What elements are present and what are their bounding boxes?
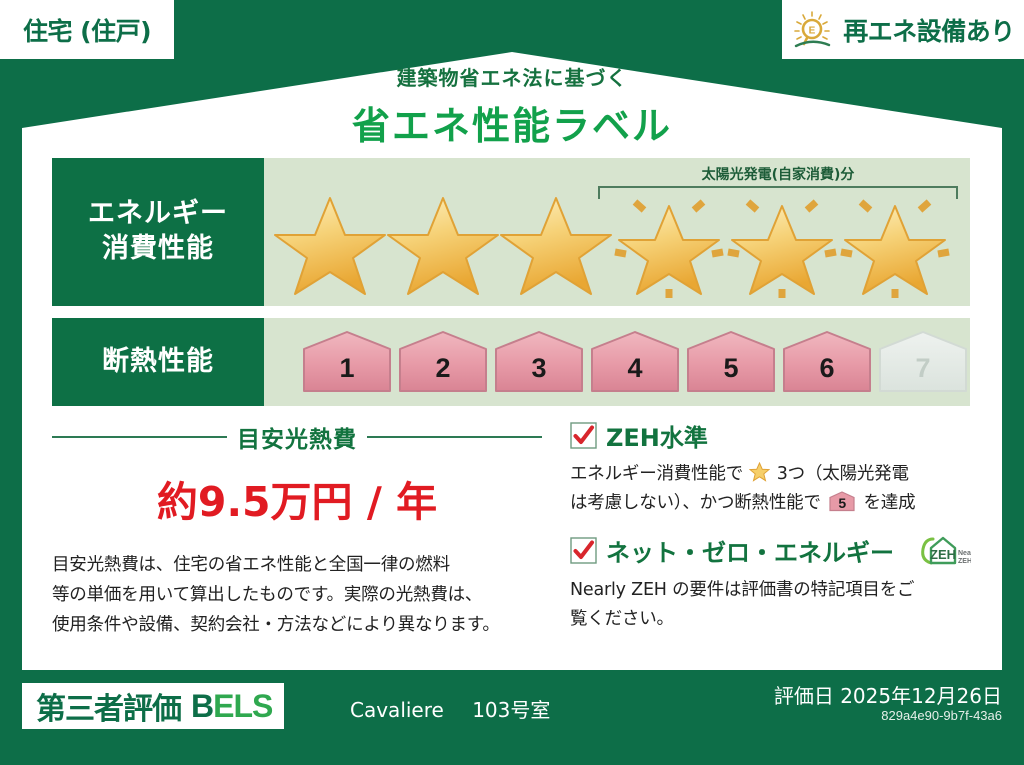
claim-net-zero-line2: 覧ください。 <box>570 605 971 634</box>
svg-text:ZEH: ZEH <box>958 558 971 565</box>
energy-label-line1: エネルギー <box>88 197 228 232</box>
room-number: 103号室 <box>472 698 550 722</box>
claim-text-pre: エネルギー消費性能で <box>570 464 743 484</box>
utility-cost-note: 目安光熱費は、住宅の省エネ性能と全国一律の燃料 等の単価を用いて算出したものです… <box>52 550 542 640</box>
evaluation-date-label: 評価日 <box>774 684 834 708</box>
renewable-badge-label: 再エネ設備あり <box>843 12 1015 48</box>
solar-annotation-label: 太陽光発電(自家消費)分 <box>598 164 958 184</box>
rule-left <box>52 436 227 438</box>
bels-letter-b: B <box>191 688 213 724</box>
title-block: 建築物省エネ法に基づく 省エネ性能ラベル <box>0 62 1024 150</box>
renewable-equipment-badge: E 再エネ設備あり <box>782 0 1024 59</box>
utility-cost-header: 目安光熱費 <box>52 420 542 454</box>
claim-net-zero-body: Nearly ZEH の要件は評価書の特記項目をご 覧ください。 <box>570 576 971 635</box>
claim-text-line2-post: を達成 <box>864 493 916 513</box>
claim-net-zero-title: ネット・ゼロ・エネルギー <box>606 533 894 568</box>
claim-zeh-standard: ZEH水準 エネルギー消費性能で 3つ（太陽光発電 は考慮しない）、かつ断熱性能… <box>570 418 971 519</box>
bels-letters-els: ELS <box>213 688 272 724</box>
insulation-performance-body: 1 2 3 <box>264 318 970 406</box>
grade-number: 7 <box>876 329 970 395</box>
energy-label-line2: 消費性能 <box>88 232 228 267</box>
energy-performance-body: 太陽光発電(自家消費)分 <box>264 158 970 306</box>
building-name: Cavaliere <box>350 698 444 722</box>
footer-bar: 第三者評価 BELS Cavaliere 103号室 評価日 2025年12月2… <box>0 670 1024 765</box>
page-title: 省エネ性能ラベル <box>0 95 1024 150</box>
insulation-performance-row: 断熱性能 <box>52 318 970 406</box>
grade-number: 5 <box>684 329 778 395</box>
insulation-grade-7: 7 <box>876 329 970 395</box>
inline-star-icon <box>749 462 770 482</box>
grade-number: 2 <box>396 329 490 395</box>
note-line-1: 目安光熱費は、住宅の省エネ性能と全国一律の燃料 <box>52 550 542 580</box>
insulation-label: 断熱性能 <box>102 345 214 380</box>
claim-net-zero-header: ネット・ゼロ・エネルギー ZEH Nearly ZEH <box>570 533 971 569</box>
insulation-grade-2: 2 <box>396 329 490 395</box>
evaluation-date-value: 2025年12月26日 <box>840 684 1002 708</box>
inline-grade-badge: 5 <box>828 491 856 512</box>
evaluation-id: 829a4e90-9b7f-43a6 <box>881 708 1002 723</box>
claim-zeh-standard-header: ZEH水準 <box>570 418 971 453</box>
house-type-tag: 住宅 (住戸) <box>0 0 174 59</box>
star-solar <box>726 188 839 298</box>
energy-performance-label: 住宅 (住戸) E 再エネ設備あり 建築物省エネ法に基づく 省エネ性能ラ <box>0 0 1024 765</box>
energy-performance-row: エネルギー 消費性能 太陽光発電(自家消費)分 <box>52 158 970 306</box>
claim-net-zero-energy: ネット・ゼロ・エネルギー ZEH Nearly ZEH Nearly ZEH の… <box>570 533 971 635</box>
energy-performance-label-cell: エネルギー 消費性能 <box>52 158 264 306</box>
label-card: エネルギー 消費性能 太陽光発電(自家消費)分 <box>28 130 996 670</box>
insulation-grade-5: 5 <box>684 329 778 395</box>
lower-section: 目安光熱費 約9.5万円 / 年 目安光熱費は、住宅の省エネ性能と全国一律の燃料… <box>52 418 970 650</box>
house-type-label: 住宅 (住戸) <box>23 12 151 48</box>
utility-cost-title: 目安光熱費 <box>237 420 357 454</box>
grade-number: 4 <box>588 329 682 395</box>
star-solar <box>613 188 726 298</box>
grade-number: 1 <box>300 329 394 395</box>
star-filled <box>274 188 387 298</box>
insulation-grade-3: 3 <box>492 329 586 395</box>
grade-number: 3 <box>492 329 586 395</box>
star-filled <box>387 188 500 298</box>
checkbox-checked-icon <box>570 422 597 449</box>
claims-block: ZEH水準 エネルギー消費性能で 3つ（太陽光発電 は考慮しない）、かつ断熱性能… <box>542 418 971 650</box>
insulation-grade-scale: 1 2 3 <box>264 318 970 406</box>
title-subtitle: 建築物省エネ法に基づく <box>0 62 1024 91</box>
rule-right <box>367 436 542 438</box>
insulation-grade-1: 1 <box>300 329 394 395</box>
claim-zeh-standard-title: ZEH水準 <box>606 418 708 453</box>
star-rating <box>264 184 970 302</box>
note-line-3: 使用条件や設備、契約会社・方法などにより異なります。 <box>52 610 542 640</box>
note-line-2: 等の単価を用いて算出したものです。実際の光熱費は、 <box>52 580 542 610</box>
svg-text:ZEH: ZEH <box>930 547 956 562</box>
star-solar <box>839 188 952 298</box>
insulation-performance-label-cell: 断熱性能 <box>52 318 264 406</box>
claim-text-line2-pre: は考慮しない）、かつ断熱性能で <box>570 493 821 513</box>
utility-cost-block: 目安光熱費 約9.5万円 / 年 目安光熱費は、住宅の省エネ性能と全国一律の燃料… <box>52 418 542 650</box>
bels-logo: 第三者評価 BELS <box>22 683 284 729</box>
claim-zeh-standard-body: エネルギー消費性能で 3つ（太陽光発電 は考慮しない）、かつ断熱性能で <box>570 460 971 519</box>
svg-text:Nearly: Nearly <box>958 550 971 557</box>
zeh-nearly-logo-icon: ZEH Nearly ZEH <box>907 533 971 569</box>
evaluation-date: 評価日 2025年12月26日 <box>774 680 1002 709</box>
solar-sun-icon: E <box>791 10 835 50</box>
bels-en-label: BELS <box>191 688 272 725</box>
bels-jp-label: 第三者評価 <box>36 684 181 728</box>
star-filled <box>500 188 613 298</box>
insulation-grade-4: 4 <box>588 329 682 395</box>
grade-number: 6 <box>780 329 874 395</box>
checkbox-checked-icon <box>570 537 597 564</box>
inline-grade-number: 5 <box>828 491 856 512</box>
utility-cost-value: 約9.5万円 / 年 <box>52 468 542 528</box>
building-identity: Cavaliere 103号室 <box>350 694 550 723</box>
svg-text:E: E <box>809 25 816 36</box>
claim-net-zero-line1: Nearly ZEH の要件は評価書の特記項目をご <box>570 576 971 605</box>
claim-text-mid: 3つ（太陽光発電 <box>777 464 909 484</box>
insulation-grade-6: 6 <box>780 329 874 395</box>
